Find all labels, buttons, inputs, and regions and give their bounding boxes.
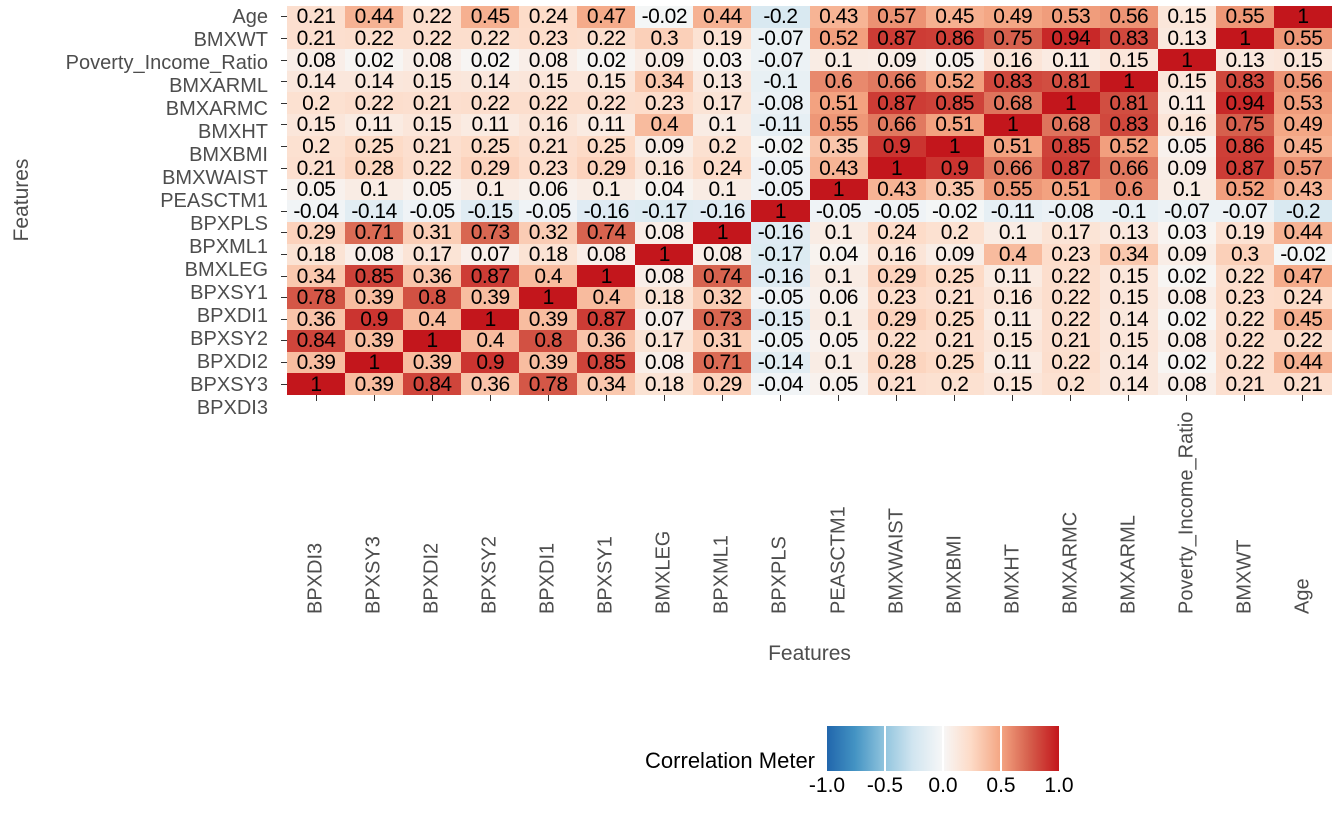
- heatmap-cell: 0.18: [519, 244, 577, 266]
- heatmap-cell: 0.15: [1100, 265, 1158, 287]
- heatmap-cell: 0.66: [1100, 157, 1158, 179]
- heatmap-cell: 0.51: [810, 92, 868, 114]
- x-axis-tick-mark: [316, 395, 317, 401]
- heatmap-cell: 0.23: [1042, 244, 1100, 266]
- heatmap-cell: 0.51: [984, 136, 1042, 158]
- heatmap-cell: 0.21: [403, 136, 461, 158]
- heatmap-cell: 1: [984, 114, 1042, 136]
- heatmap-cell: 0.1: [1158, 179, 1216, 201]
- heatmap-cell: 0.24: [1274, 287, 1332, 309]
- heatmap-cell: 0.25: [926, 352, 984, 374]
- heatmap-cell: 1: [693, 222, 751, 244]
- heatmap-cell: 0.22: [1042, 352, 1100, 374]
- legend-tick-label: -0.5: [867, 774, 903, 798]
- x-axis-tick-label-slot: BPXPLS: [751, 404, 809, 614]
- heatmap-cell: 0.66: [868, 71, 926, 93]
- heatmap-cell: 0.85: [345, 265, 403, 287]
- heatmap-cell: 0.24: [868, 222, 926, 244]
- heatmap-cell: -0.16: [693, 200, 751, 222]
- heatmap-cell: 0.68: [1042, 114, 1100, 136]
- heatmap-cell: -0.15: [461, 200, 519, 222]
- heatmap-cell: -0.04: [287, 200, 345, 222]
- heatmap-cell: 0.3: [1216, 244, 1274, 266]
- heatmap-cell: 0.06: [519, 179, 577, 201]
- x-axis-tick-label: BMXBMI: [943, 535, 966, 614]
- x-axis-tick-label-slot: BMXHT: [984, 404, 1042, 614]
- x-axis-title: Features: [287, 642, 1332, 666]
- heatmap-cell: 0.87: [868, 28, 926, 50]
- y-axis-tick-label: BPXPLS: [0, 213, 277, 236]
- heatmap-cell: 0.52: [810, 28, 868, 50]
- x-axis-tick-label-slot: BMXWAIST: [868, 404, 926, 614]
- heatmap-cell: 0.08: [519, 49, 577, 71]
- heatmap-cell: 0.22: [461, 92, 519, 114]
- legend-separator: [1000, 726, 1002, 771]
- heatmap-cell: 0.4: [577, 287, 635, 309]
- heatmap-cell: 0.87: [461, 265, 519, 287]
- heatmap-cell: 0.35: [926, 179, 984, 201]
- heatmap-cell: 1: [751, 200, 809, 222]
- heatmap-cell: 0.11: [984, 309, 1042, 331]
- heatmap-cell: 0.02: [1158, 265, 1216, 287]
- heatmap-cell: -0.05: [751, 157, 809, 179]
- heatmap-cell: 0.34: [577, 373, 635, 395]
- heatmap-cell: 0.36: [403, 265, 461, 287]
- heatmap-cell: -0.14: [345, 200, 403, 222]
- heatmap-cell: 0.44: [1274, 222, 1332, 244]
- heatmap-cell: 0.4: [635, 114, 693, 136]
- x-axis-tick-label: BMXHT: [1001, 544, 1024, 614]
- heatmap-cell: 0.02: [1158, 309, 1216, 331]
- heatmap-cell: 0.25: [461, 136, 519, 158]
- heatmap-cell: 0.71: [345, 222, 403, 244]
- heatmap-cell: 0.2: [926, 222, 984, 244]
- x-axis-tick-label: BMXWT: [1233, 540, 1256, 614]
- heatmap-cell: 0.66: [868, 114, 926, 136]
- x-axis-tick-label: BPXSY1: [595, 536, 618, 614]
- heatmap-cell: -0.05: [519, 200, 577, 222]
- x-axis-tick-labels: BPXDI3BPXSY3BPXDI2BPXSY2BPXDI1BPXSY1BMXL…: [287, 404, 1332, 614]
- heatmap-cell: 0.29: [868, 309, 926, 331]
- heatmap-cell: 0.39: [345, 373, 403, 395]
- legend-title: Correlation Meter: [550, 748, 815, 774]
- heatmap-cell: 0.39: [287, 352, 345, 374]
- heatmap-cell: -0.16: [751, 265, 809, 287]
- heatmap-cell: 0.15: [984, 330, 1042, 352]
- heatmap-cell: 0.21: [926, 287, 984, 309]
- heatmap-cell: 0.87: [1042, 157, 1100, 179]
- heatmap-cell: 0.02: [461, 49, 519, 71]
- heatmap-cell: 0.83: [1216, 71, 1274, 93]
- heatmap-cell: -0.1: [1100, 200, 1158, 222]
- heatmap-cell: 0.23: [1216, 287, 1274, 309]
- heatmap-cell: 0.8: [403, 287, 461, 309]
- x-axis-tick-mark: [548, 395, 549, 401]
- heatmap-cell: 0.25: [577, 136, 635, 158]
- heatmap-cell: 0.23: [519, 157, 577, 179]
- x-axis-tick-mark: [664, 395, 665, 401]
- heatmap-cell: 0.56: [1274, 71, 1332, 93]
- heatmap-cell: -0.11: [984, 200, 1042, 222]
- heatmap-cell: 1: [1100, 71, 1158, 93]
- x-axis-tick-mark: [780, 395, 781, 401]
- heatmap-cell: 0.43: [810, 6, 868, 28]
- heatmap-cell: 0.07: [461, 244, 519, 266]
- heatmap-cell: 0.17: [693, 92, 751, 114]
- x-axis-tick-label: BMXARML: [1117, 515, 1140, 614]
- y-axis-tick-label: BPXML1: [0, 236, 277, 259]
- heatmap-cell: 0.39: [403, 352, 461, 374]
- x-axis-tick-mark: [490, 395, 491, 401]
- heatmap-cell: 1: [345, 352, 403, 374]
- heatmap-cell: 0.78: [287, 287, 345, 309]
- x-axis-tick-label-slot: BPXML1: [693, 404, 751, 614]
- heatmap-grid: 0.210.440.220.450.240.47-0.020.44-0.20.4…: [287, 6, 1332, 395]
- heatmap-cell: 0.21: [1274, 373, 1332, 395]
- heatmap-cell: 0.22: [1042, 287, 1100, 309]
- heatmap-cell: 0.11: [1042, 49, 1100, 71]
- heatmap-cell: 0.11: [577, 114, 635, 136]
- heatmap-cell: 0.2: [926, 373, 984, 395]
- heatmap-cell: -0.05: [751, 179, 809, 201]
- y-axis-tick-label: BPXDI2: [0, 351, 277, 374]
- heatmap-cell: 0.24: [693, 157, 751, 179]
- heatmap-cell: 0.57: [868, 6, 926, 28]
- heatmap-cell: 0.34: [287, 265, 345, 287]
- heatmap-cell: 0.2: [1042, 373, 1100, 395]
- heatmap-cell: 1: [868, 157, 926, 179]
- heatmap-cell: -0.05: [868, 200, 926, 222]
- legend: Correlation Meter -1.0-0.50.00.51.0: [550, 712, 1110, 812]
- heatmap-cell: 0.08: [693, 244, 751, 266]
- x-axis-tick-mark: [896, 395, 897, 401]
- heatmap-cell: 1: [519, 287, 577, 309]
- heatmap-cell: 0.19: [1216, 222, 1274, 244]
- heatmap-cell: -0.2: [1274, 200, 1332, 222]
- heatmap-cell: 0.11: [984, 265, 1042, 287]
- heatmap-cell: 0.15: [403, 71, 461, 93]
- heatmap-cell: 1: [1158, 49, 1216, 71]
- heatmap-cell: 0.22: [1042, 265, 1100, 287]
- heatmap-cell: 0.52: [926, 71, 984, 93]
- heatmap-cell: 1: [810, 179, 868, 201]
- x-axis-tick-label: BMXWAIST: [885, 508, 908, 614]
- heatmap-cell: 0.14: [345, 71, 403, 93]
- heatmap-cell: 0.68: [984, 92, 1042, 114]
- heatmap-cell: 0.83: [984, 71, 1042, 93]
- heatmap-cell: 0.29: [577, 157, 635, 179]
- x-axis-tick-label: BPXML1: [711, 535, 734, 614]
- heatmap-cell: 0.2: [287, 136, 345, 158]
- x-axis-tick-mark: [374, 395, 375, 401]
- heatmap-cell: 0.14: [1100, 309, 1158, 331]
- heatmap-cell: 0.22: [519, 92, 577, 114]
- heatmap-cell: 0.23: [635, 92, 693, 114]
- heatmap-cell: 1: [577, 265, 635, 287]
- heatmap-cell: -0.04: [751, 373, 809, 395]
- heatmap-cell: 0.09: [1158, 244, 1216, 266]
- heatmap-plot-area: 0.210.440.220.450.240.47-0.020.44-0.20.4…: [287, 6, 1332, 395]
- x-axis-tick-label: BPXSY3: [363, 536, 386, 614]
- heatmap-cell: 0.08: [345, 244, 403, 266]
- heatmap-cell: 0.45: [1274, 136, 1332, 158]
- y-axis-tick-label: BMXARMC: [0, 98, 277, 121]
- heatmap-cell: 0.36: [461, 373, 519, 395]
- heatmap-cell: 0.16: [868, 244, 926, 266]
- x-axis-tick-label: Poverty_Income_Ratio: [1175, 412, 1198, 614]
- heatmap-cell: 0.34: [1100, 244, 1158, 266]
- heatmap-cell: 0.55: [1274, 28, 1332, 50]
- heatmap-cell: 0.2: [287, 92, 345, 114]
- heatmap-cell: 1: [1042, 92, 1100, 114]
- heatmap-cell: 0.11: [345, 114, 403, 136]
- heatmap-cell: 0.21: [519, 136, 577, 158]
- x-axis-tick-mark: [1186, 395, 1187, 401]
- heatmap-cell: 1: [926, 136, 984, 158]
- x-axis-tick-mark: [1070, 395, 1071, 401]
- heatmap-cell: 0.83: [1100, 28, 1158, 50]
- heatmap-cell: 0.4: [519, 265, 577, 287]
- x-axis-tick-mark: [1302, 395, 1303, 401]
- heatmap-cell: 0.81: [1100, 92, 1158, 114]
- heatmap-cell: -0.16: [577, 200, 635, 222]
- x-axis-tick-label-slot: PEASCTM1: [810, 404, 868, 614]
- heatmap-cell: 0.53: [1274, 92, 1332, 114]
- x-axis-tick-label-slot: Age: [1274, 404, 1332, 614]
- x-axis-tick-label-slot: Poverty_Income_Ratio: [1158, 404, 1216, 614]
- x-axis-tick-label: PEASCTM1: [827, 506, 850, 614]
- heatmap-cell: 0.16: [519, 114, 577, 136]
- heatmap-cell: 0.15: [577, 71, 635, 93]
- heatmap-cell: 0.08: [1158, 330, 1216, 352]
- heatmap-cell: 0.02: [345, 49, 403, 71]
- heatmap-cell: 0.45: [1274, 309, 1332, 331]
- heatmap-cell: 0.15: [519, 71, 577, 93]
- heatmap-cell: 0.1: [810, 222, 868, 244]
- heatmap-cell: 0.15: [1100, 330, 1158, 352]
- heatmap-cell: 0.39: [345, 330, 403, 352]
- heatmap-cell: 0.1: [810, 352, 868, 374]
- heatmap-cell: 0.11: [984, 352, 1042, 374]
- heatmap-cell: 0.22: [1216, 265, 1274, 287]
- heatmap-cell: 0.13: [1100, 222, 1158, 244]
- heatmap-cell: 0.22: [1274, 330, 1332, 352]
- x-axis-tick-label: BMXARMC: [1059, 512, 1082, 614]
- heatmap-cell: -0.02: [751, 136, 809, 158]
- heatmap-cell: 0.22: [868, 330, 926, 352]
- heatmap-cell: 0.14: [461, 71, 519, 93]
- heatmap-cell: 0.1: [693, 179, 751, 201]
- heatmap-cell: 0.21: [868, 373, 926, 395]
- heatmap-cell: -0.17: [635, 200, 693, 222]
- heatmap-cell: 0.39: [461, 287, 519, 309]
- heatmap-cell: 0.04: [635, 179, 693, 201]
- heatmap-cell: 0.83: [1100, 114, 1158, 136]
- heatmap-cell: 0.29: [693, 373, 751, 395]
- heatmap-cell: 0.14: [1100, 373, 1158, 395]
- x-axis-tick-label-slot: BMXARML: [1100, 404, 1158, 614]
- heatmap-cell: 0.81: [1042, 71, 1100, 93]
- heatmap-cell: 0.13: [693, 71, 751, 93]
- heatmap-cell: 0.06: [810, 287, 868, 309]
- heatmap-cell: 0.9: [868, 136, 926, 158]
- heatmap-cell: 0.07: [635, 309, 693, 331]
- heatmap-cell: -0.11: [751, 114, 809, 136]
- heatmap-cell: 0.16: [1158, 114, 1216, 136]
- legend-tick-label: 1.0: [1044, 774, 1073, 798]
- heatmap-cell: -0.1: [751, 71, 809, 93]
- heatmap-cell: 0.39: [519, 352, 577, 374]
- x-axis-tick-label-slot: BMXBMI: [926, 404, 984, 614]
- heatmap-cell: 0.47: [577, 6, 635, 28]
- heatmap-cell: 0.15: [1100, 287, 1158, 309]
- heatmap-cell: 0.35: [810, 136, 868, 158]
- heatmap-cell: 0.86: [1216, 136, 1274, 158]
- heatmap-cell: 0.75: [1216, 114, 1274, 136]
- x-axis-tick-label-slot: BMXARMC: [1042, 404, 1100, 614]
- heatmap-cell: 0.55: [984, 179, 1042, 201]
- heatmap-cell: 0.03: [693, 49, 751, 71]
- heatmap-cell: 0.8: [519, 330, 577, 352]
- heatmap-cell: 0.09: [926, 244, 984, 266]
- heatmap-cell: 0.1: [693, 114, 751, 136]
- heatmap-cell: 0.9: [926, 157, 984, 179]
- heatmap-cell: -0.02: [635, 6, 693, 28]
- y-axis-tick-label: BPXSY3: [0, 374, 277, 397]
- heatmap-cell: 0.13: [1216, 49, 1274, 71]
- heatmap-cell: 0.21: [403, 92, 461, 114]
- y-axis-tick-label: BPXDI3: [0, 397, 277, 420]
- heatmap-cell: 0.16: [635, 157, 693, 179]
- x-axis-ticks: [287, 395, 1332, 401]
- heatmap-cell: 0.11: [1158, 92, 1216, 114]
- heatmap-cell: 0.36: [287, 309, 345, 331]
- heatmap-cell: 0.21: [287, 6, 345, 28]
- y-axis-tick-label: BPXSY2: [0, 328, 277, 351]
- heatmap-cell: 0.36: [577, 330, 635, 352]
- heatmap-cell: 0.05: [403, 179, 461, 201]
- heatmap-cell: 0.94: [1042, 28, 1100, 50]
- heatmap-cell: 0.18: [287, 244, 345, 266]
- heatmap-cell: 0.84: [287, 330, 345, 352]
- heatmap-cell: 1: [287, 373, 345, 395]
- y-axis-tick-label: BMXHT: [0, 121, 277, 144]
- heatmap-cell: 0.14: [1100, 352, 1158, 374]
- heatmap-cell: 0.22: [345, 92, 403, 114]
- heatmap-cell: 0.15: [1100, 49, 1158, 71]
- heatmap-cell: 0.21: [287, 28, 345, 50]
- heatmap-cell: 0.71: [693, 352, 751, 374]
- heatmap-cell: 0.87: [577, 309, 635, 331]
- legend-separator: [942, 726, 944, 771]
- y-axis-tick-label: PEASCTM1: [0, 190, 277, 213]
- heatmap-cell: 0.1: [810, 309, 868, 331]
- legend-separator: [884, 726, 886, 771]
- heatmap-cell: 0.1: [810, 49, 868, 71]
- heatmap-cell: 0.21: [1042, 330, 1100, 352]
- x-axis-tick-mark: [722, 395, 723, 401]
- heatmap-cell: 0.1: [345, 179, 403, 201]
- heatmap-cell: 1: [461, 309, 519, 331]
- heatmap-cell: 0.18: [635, 287, 693, 309]
- heatmap-cell: 0.05: [1158, 136, 1216, 158]
- x-axis-tick-label: BMXLEG: [653, 531, 676, 614]
- y-axis-tick-labels: AgeBMXWTPoverty_Income_RatioBMXARMLBMXAR…: [0, 6, 277, 395]
- heatmap-cell: 0.22: [1216, 352, 1274, 374]
- heatmap-cell: 1: [635, 244, 693, 266]
- x-axis-tick-label-slot: BMXWT: [1216, 404, 1274, 614]
- x-axis-tick-label-slot: BPXSY3: [345, 404, 403, 614]
- heatmap-cell: 0.08: [403, 49, 461, 71]
- heatmap-cell: 0.15: [1158, 6, 1216, 28]
- heatmap-cell: 0.14: [287, 71, 345, 93]
- heatmap-cell: 0.4: [984, 244, 1042, 266]
- heatmap-cell: 0.22: [403, 157, 461, 179]
- heatmap-cell: 0.09: [635, 49, 693, 71]
- heatmap-cell: 0.22: [403, 28, 461, 50]
- heatmap-cell: -0.05: [810, 200, 868, 222]
- heatmap-cell: 0.52: [1100, 136, 1158, 158]
- heatmap-cell: 0.32: [519, 222, 577, 244]
- heatmap-cell: -0.15: [751, 309, 809, 331]
- x-axis-tick-label: BPXSY2: [479, 536, 502, 614]
- heatmap-cell: 0.22: [1042, 309, 1100, 331]
- x-axis-tick-mark: [606, 395, 607, 401]
- heatmap-cell: -0.05: [751, 330, 809, 352]
- x-axis-tick-mark: [1128, 395, 1129, 401]
- heatmap-cell: 0.29: [287, 222, 345, 244]
- x-axis-tick-label-slot: BPXSY2: [461, 404, 519, 614]
- heatmap-cell: 0.66: [984, 157, 1042, 179]
- heatmap-cell: -0.02: [1274, 244, 1332, 266]
- x-axis-tick-label-slot: BPXDI1: [519, 404, 577, 614]
- heatmap-cell: 0.85: [926, 92, 984, 114]
- heatmap-cell: 0.3: [635, 28, 693, 50]
- x-axis-tick-label-slot: BMXLEG: [635, 404, 693, 614]
- heatmap-cell: 0.08: [635, 265, 693, 287]
- heatmap-cell: -0.07: [751, 28, 809, 50]
- heatmap-cell: 0.05: [926, 49, 984, 71]
- heatmap-cell: 0.52: [1216, 179, 1274, 201]
- heatmap-cell: 0.44: [693, 6, 751, 28]
- heatmap-cell: 0.23: [868, 287, 926, 309]
- heatmap-cell: 0.29: [461, 157, 519, 179]
- heatmap-cell: 0.22: [577, 28, 635, 50]
- heatmap-cell: -0.2: [751, 6, 809, 28]
- heatmap-cell: 0.51: [1042, 179, 1100, 201]
- heatmap-cell: 0.75: [984, 28, 1042, 50]
- heatmap-cell: 0.21: [287, 157, 345, 179]
- heatmap-cell: 0.16: [984, 49, 1042, 71]
- heatmap-cell: 0.53: [1042, 6, 1100, 28]
- heatmap-cell: -0.05: [751, 287, 809, 309]
- heatmap-cell: 0.44: [345, 6, 403, 28]
- heatmap-cell: 0.09: [635, 136, 693, 158]
- x-axis-tick-mark: [838, 395, 839, 401]
- heatmap-cell: 0.6: [1100, 179, 1158, 201]
- legend-tick-label: 0.5: [986, 774, 1015, 798]
- heatmap-cell: 0.05: [810, 330, 868, 352]
- heatmap-cell: 0.6: [810, 71, 868, 93]
- heatmap-cell: 0.08: [1158, 373, 1216, 395]
- heatmap-cell: 0.03: [1158, 222, 1216, 244]
- heatmap-cell: 0.25: [926, 309, 984, 331]
- legend-tick-label: -1.0: [809, 774, 845, 798]
- heatmap-cell: 0.24: [519, 6, 577, 28]
- heatmap-cell: 0.86: [926, 28, 984, 50]
- heatmap-cell: -0.17: [751, 244, 809, 266]
- heatmap-cell: -0.05: [403, 200, 461, 222]
